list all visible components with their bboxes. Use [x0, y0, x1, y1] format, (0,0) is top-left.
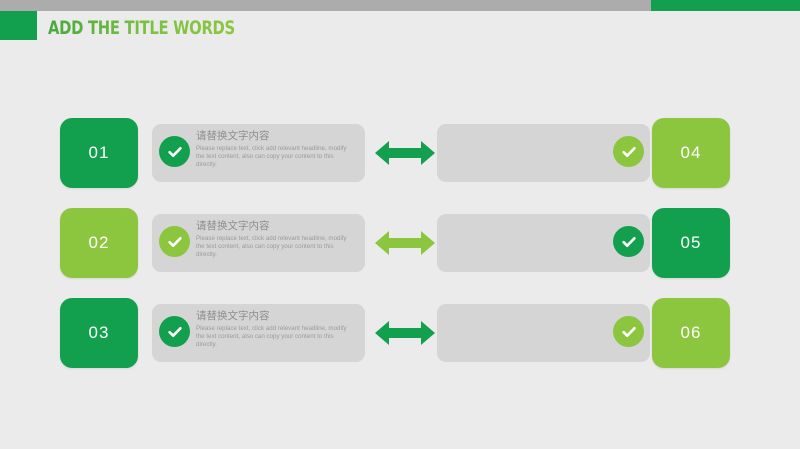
card-body: Please replace text, click add relevant …: [196, 235, 356, 260]
number-badge-label: 06: [681, 323, 702, 343]
number-badge-06[interactable]: 06: [652, 298, 730, 368]
diagram-row: 01 请替换文字内容 Please replace text, click ad…: [0, 118, 800, 188]
diagram-row: 03 请替换文字内容 Please replace text, click ad…: [0, 298, 800, 368]
top-accent-bar-green-segment: [651, 0, 800, 11]
page-title: ADD THE TITLE WORDS: [48, 17, 235, 39]
double-arrow-icon: [375, 316, 435, 350]
card-heading: 请替换文字内容: [196, 130, 356, 143]
card-body: Please replace text, click add relevant …: [196, 325, 356, 350]
check-icon: [159, 136, 190, 167]
card-heading: 请替换文字内容: [196, 220, 356, 233]
number-badge-label: 03: [89, 323, 110, 343]
number-badge-04[interactable]: 04: [652, 118, 730, 188]
number-badge-02[interactable]: 02: [60, 208, 138, 278]
check-icon: [613, 136, 644, 167]
check-icon: [159, 226, 190, 257]
top-accent-bar: [0, 0, 800, 11]
check-icon: [613, 226, 644, 257]
card-text-left-01: 请替换文字内容 Please replace text, click add r…: [196, 130, 356, 170]
check-icon: [613, 316, 644, 347]
number-badge-label: 05: [681, 233, 702, 253]
card-text-left-03: 请替换文字内容 Please replace text, click add r…: [196, 310, 356, 350]
card-body: Please replace text, click add relevant …: [196, 145, 356, 170]
number-badge-03[interactable]: 03: [60, 298, 138, 368]
diagram-row: 02 请替换文字内容 Please replace text, click ad…: [0, 208, 800, 278]
diagram-rows: 01 请替换文字内容 Please replace text, click ad…: [0, 118, 800, 388]
header-green-swatch: [0, 11, 37, 40]
card-heading: 请替换文字内容: [196, 310, 356, 323]
number-badge-01[interactable]: 01: [60, 118, 138, 188]
double-arrow-icon: [375, 136, 435, 170]
slide-header: ADD THE TITLE WORDS: [0, 11, 800, 47]
number-badge-label: 02: [89, 233, 110, 253]
number-badge-label: 01: [89, 143, 110, 163]
check-icon: [159, 316, 190, 347]
card-text-left-02: 请替换文字内容 Please replace text, click add r…: [196, 220, 356, 260]
number-badge-label: 04: [681, 143, 702, 163]
double-arrow-icon: [375, 226, 435, 260]
top-accent-bar-gray-segment: [0, 0, 651, 11]
number-badge-05[interactable]: 05: [652, 208, 730, 278]
